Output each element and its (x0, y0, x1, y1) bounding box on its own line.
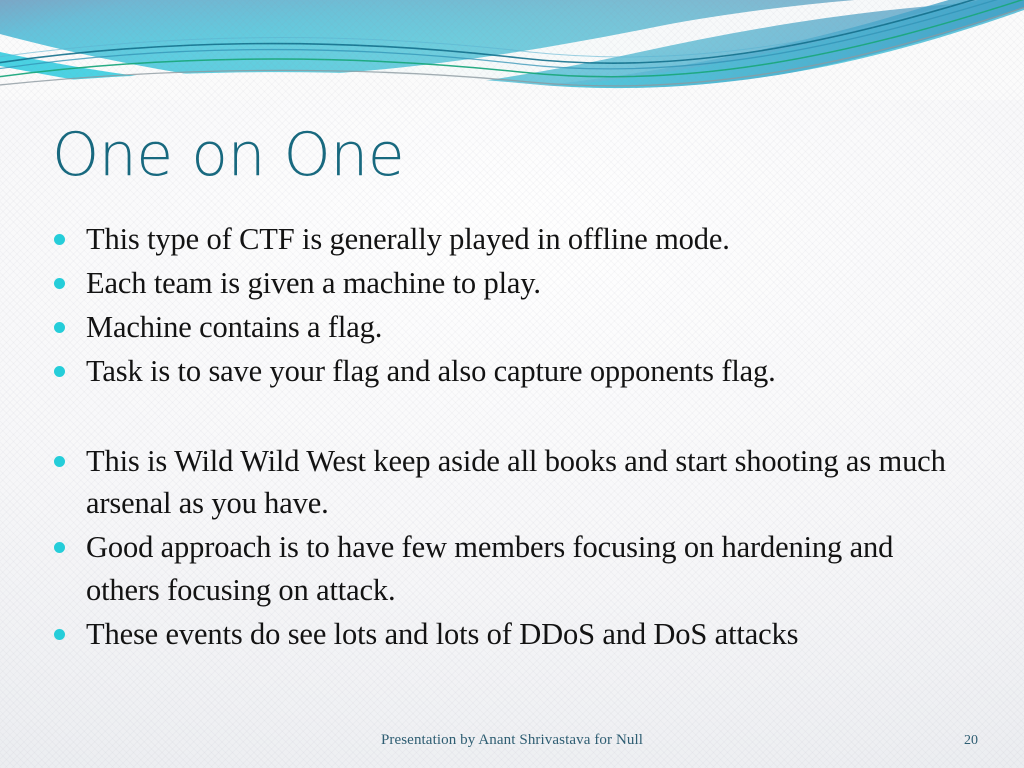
bullet-text: This type of CTF is generally played in … (86, 218, 974, 260)
bullet-item: These events do see lots and lots of DDo… (54, 613, 974, 655)
bullet-item: This type of CTF is generally played in … (54, 218, 974, 260)
slide-body-list: This type of CTF is generally played in … (54, 218, 974, 657)
bullet-text: Each team is given a machine to play. (86, 262, 974, 304)
bullet-item: Each team is given a machine to play. (54, 262, 974, 304)
bullet-list-spacer (54, 394, 974, 440)
bullet-item: Good approach is to have few members foc… (54, 526, 974, 610)
bullet-item: Machine contains a flag. (54, 306, 974, 348)
slide-footer-text: Presentation by Anant Shrivastava for Nu… (0, 732, 1024, 749)
bullet-text: This is Wild Wild West keep aside all bo… (86, 440, 974, 524)
bullet-dot-icon (54, 456, 65, 467)
bullet-dot-icon (54, 629, 65, 640)
bullet-dot-icon (54, 366, 65, 377)
bullet-dot-icon (54, 322, 65, 333)
slide-page-number: 20 (964, 733, 978, 749)
bullet-item: This is Wild Wild West keep aside all bo… (54, 440, 974, 524)
presentation-slide: One on One This type of CTF is generally… (0, 0, 1024, 768)
bullet-text: Machine contains a flag. (86, 306, 974, 348)
header-wave-decoration (0, 0, 1024, 130)
bullet-dot-icon (54, 234, 65, 245)
bullet-dot-icon (54, 278, 65, 289)
bullet-text: Task is to save your flag and also captu… (86, 350, 974, 392)
bullet-dot-icon (54, 542, 65, 553)
slide-title: One on One (52, 124, 404, 187)
bullet-text: Good approach is to have few members foc… (86, 526, 974, 610)
bullet-item: Task is to save your flag and also captu… (54, 350, 974, 392)
bullet-text: These events do see lots and lots of DDo… (86, 613, 974, 655)
